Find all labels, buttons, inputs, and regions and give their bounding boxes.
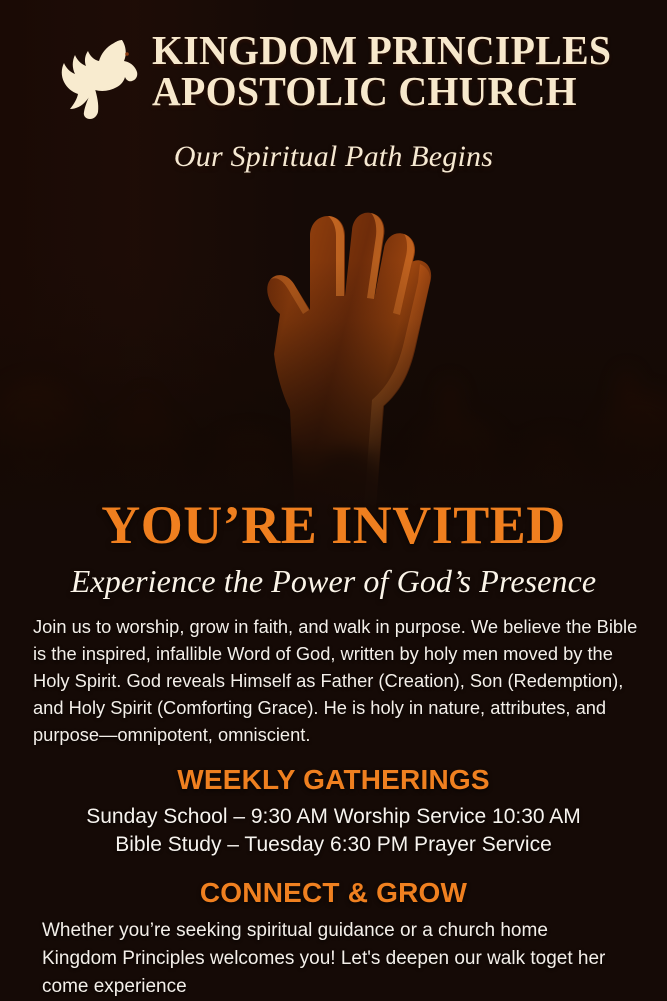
church-titles: KINGDOM PRINCIPLES APOSTOLIC CHURCH <box>152 26 626 111</box>
schedule-list: Sunday School – 9:30 AM Worship Service … <box>0 803 667 858</box>
poster-content: YOU’RE INVITED Experience the Power of G… <box>0 498 667 1001</box>
photo-bottom-fade <box>0 260 667 530</box>
headline: YOU’RE INVITED <box>0 498 667 552</box>
poster-header: KINGDOM PRINCIPLES APOSTOLIC CHURCH Our … <box>0 0 667 172</box>
body-paragraph: Join us to worship, grow in faith, and w… <box>33 614 639 748</box>
brand-row: KINGDOM PRINCIPLES APOSTOLIC CHURCH <box>0 26 667 124</box>
weekly-gatherings-heading: WEEKLY GATHERINGS <box>0 766 667 794</box>
schedule-line: Bible Study – Tuesday 6:30 PM Prayer Ser… <box>0 831 667 859</box>
subheadline: Experience the Power of God’s Presence <box>0 565 667 597</box>
tagline: Our Spiritual Path Begins <box>0 142 667 172</box>
schedule-line: Sunday School – 9:30 AM Worship Service … <box>0 803 667 831</box>
connect-paragraph: Whether you’re seeking spiritual guidanc… <box>42 917 627 1001</box>
church-name-line-1: KINGDOM PRINCIPLES <box>152 30 611 71</box>
church-name-line-2: APOSTOLIC CHURCH <box>152 71 611 112</box>
connect-grow-heading: CONNECT & GROW <box>0 879 667 907</box>
church-invitation-poster: KINGDOM PRINCIPLES APOSTOLIC CHURCH Our … <box>0 0 667 1001</box>
dove-icon <box>48 28 144 124</box>
